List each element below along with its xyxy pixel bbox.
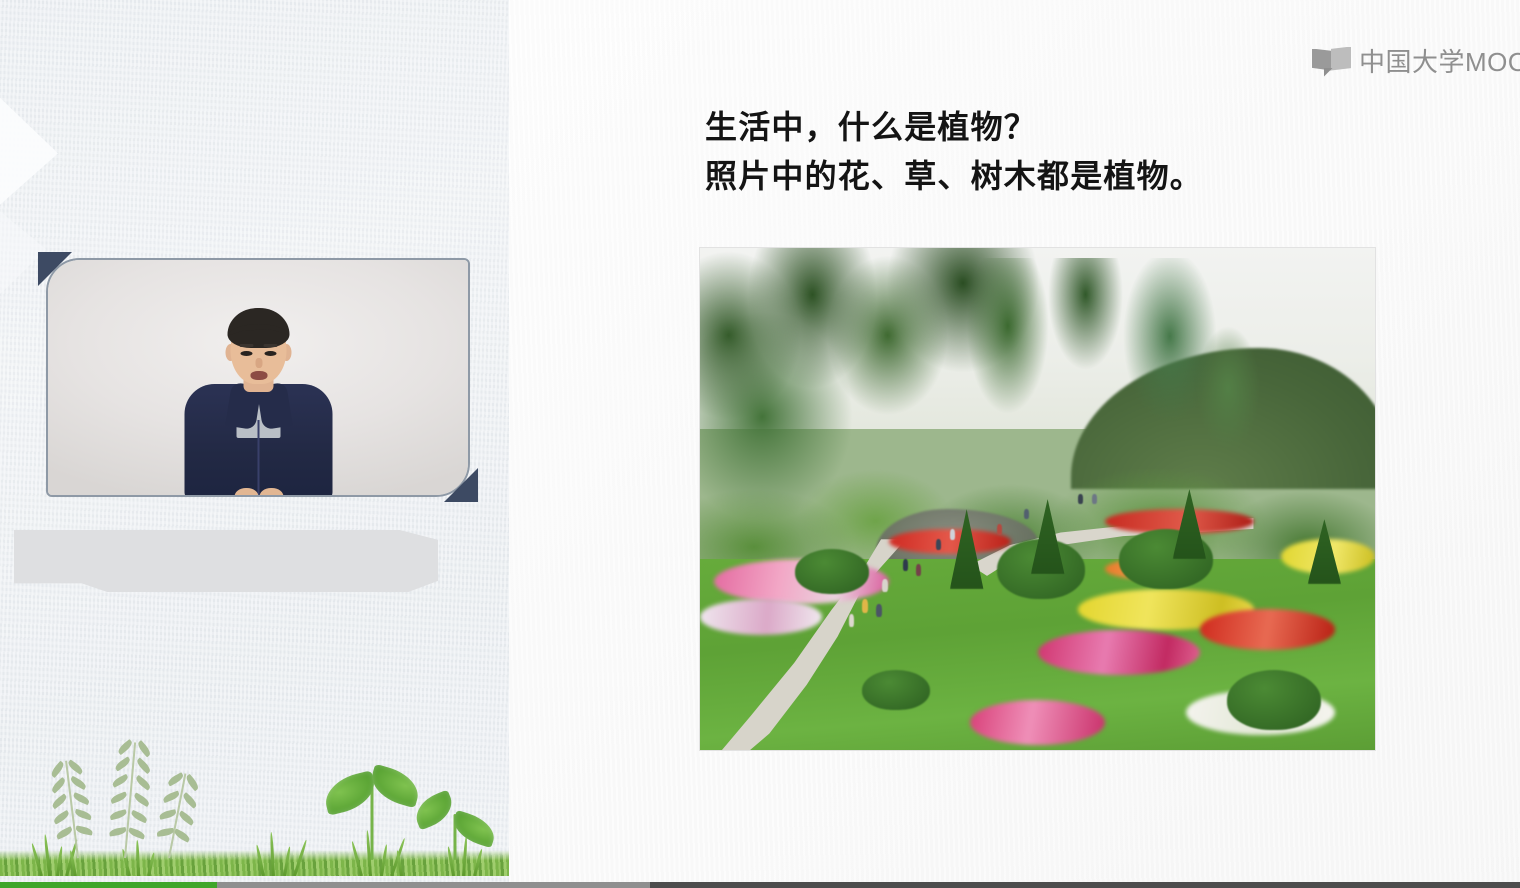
mooc-logo-text: 中国大学MOOC bbox=[1359, 42, 1520, 79]
presenter-eye-right bbox=[264, 351, 276, 356]
caption-placeholder-banner bbox=[14, 530, 438, 592]
presenter-figure bbox=[171, 300, 346, 497]
seedling-large bbox=[318, 768, 426, 860]
mooc-logo: 中国大学MOOC bbox=[1312, 42, 1520, 79]
flower-bed-magenta-mid bbox=[1038, 630, 1200, 675]
visitor bbox=[862, 599, 868, 613]
visitor bbox=[876, 604, 882, 617]
topiary-round-d bbox=[1227, 670, 1322, 730]
corner-notch-decoration bbox=[0, 92, 58, 210]
open-book-icon-page-left bbox=[1312, 49, 1331, 71]
presenter-nose bbox=[255, 358, 262, 368]
presenter-eyebrow-right bbox=[263, 344, 277, 347]
slide-canvas: 中国大学MOOC 生活中，什么是植物？ 照片中的花、草、树木都是植物。 bbox=[0, 0, 1520, 888]
visitor bbox=[1024, 509, 1029, 519]
visitor bbox=[950, 529, 955, 540]
headline-line-2: 照片中的花、草、树木都是植物。 bbox=[705, 152, 1485, 201]
fern-plant-b bbox=[104, 741, 156, 860]
content-panel: 中国大学MOOC 生活中，什么是植物？ 照片中的花、草、树木都是植物。 bbox=[509, 0, 1520, 882]
video-progress-track[interactable] bbox=[0, 882, 1520, 888]
headline-line-1: 生活中，什么是植物？ bbox=[705, 103, 1485, 152]
plant-decoration bbox=[0, 736, 509, 876]
visitor bbox=[882, 579, 888, 592]
fern-plant-c bbox=[150, 770, 204, 862]
topiary-round-c bbox=[795, 549, 869, 594]
presenter-hand-right bbox=[259, 488, 283, 497]
fern-plant-a bbox=[46, 758, 98, 860]
presenter-mouth bbox=[250, 371, 267, 380]
visitor bbox=[997, 524, 1002, 535]
video-progress-played[interactable] bbox=[0, 882, 217, 888]
presenter-eyebrow-left bbox=[239, 344, 253, 347]
visitor bbox=[903, 559, 908, 571]
flower-bed-pink-bottom bbox=[970, 700, 1105, 745]
flower-bed-white-left bbox=[700, 599, 822, 634]
visitor bbox=[936, 539, 941, 550]
visitor bbox=[1078, 494, 1083, 504]
topiary-round-e bbox=[862, 670, 930, 710]
slide-headline: 生活中，什么是植物？ 照片中的花、草、树木都是植物。 bbox=[705, 103, 1485, 200]
open-book-icon-page-right bbox=[1331, 47, 1351, 71]
seedling-small bbox=[412, 794, 498, 860]
visitor bbox=[849, 614, 854, 627]
presenter-panel bbox=[0, 0, 509, 882]
presenter-video-frame[interactable] bbox=[46, 258, 470, 497]
garden-photo bbox=[699, 247, 1376, 751]
presenter-hand-left bbox=[234, 488, 258, 497]
presenter-zipper bbox=[257, 420, 259, 497]
presenter-eye-left bbox=[240, 351, 252, 356]
open-book-icon bbox=[1312, 47, 1352, 75]
visitor bbox=[1092, 494, 1097, 504]
visitor bbox=[916, 564, 921, 576]
flower-bed-red-lower bbox=[1200, 609, 1335, 649]
